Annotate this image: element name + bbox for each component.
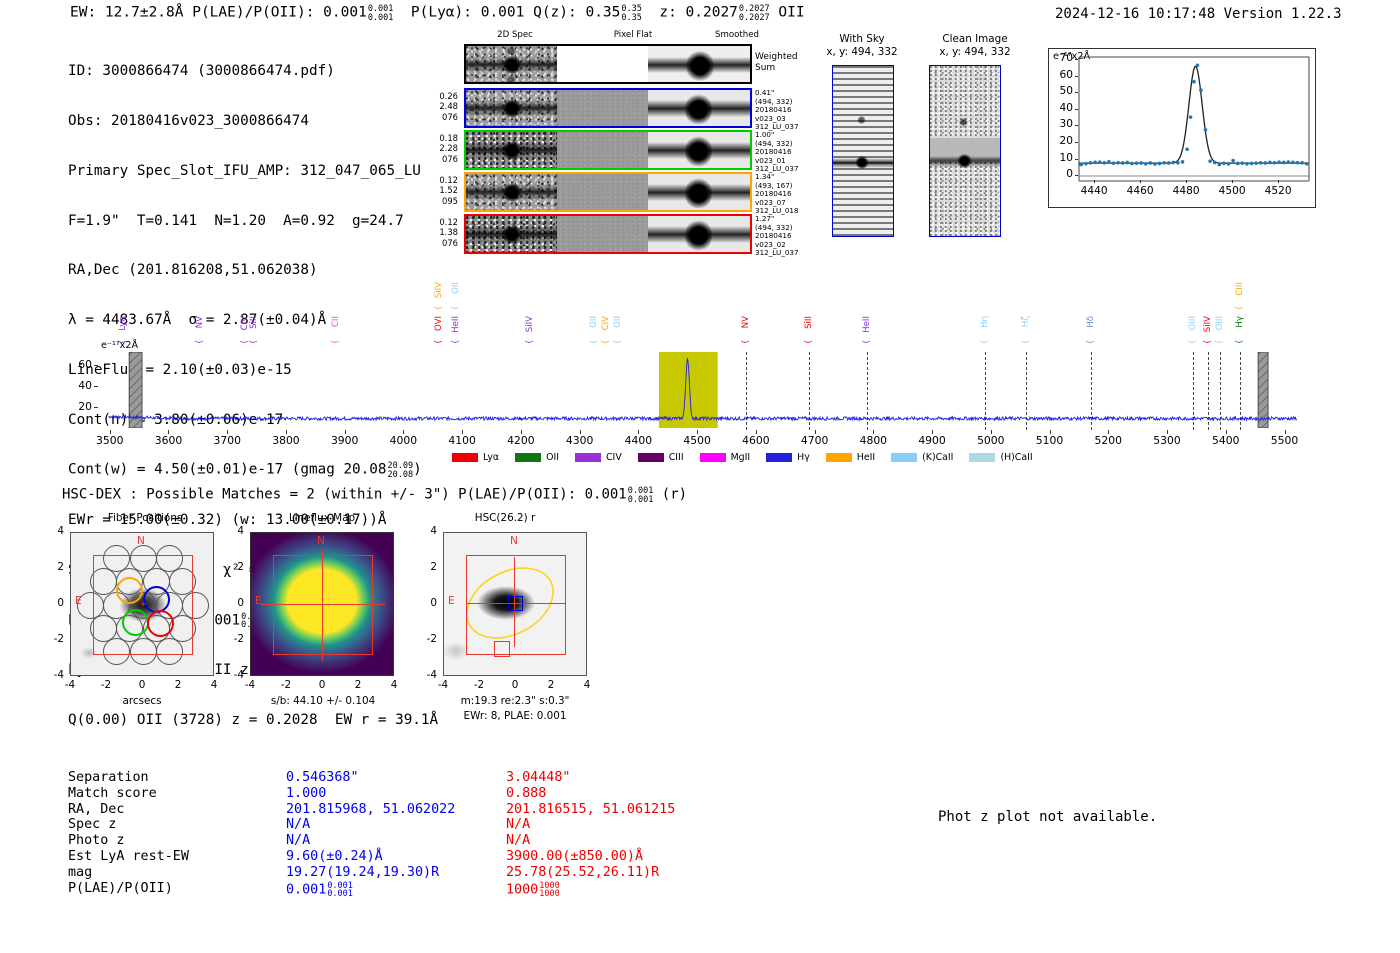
cutout-ytick: -2	[222, 633, 244, 645]
header-summary-part-b: P(Lyα): 0.001 Q(z): 0.35	[411, 5, 621, 21]
cutout-xtick: 0	[500, 679, 530, 691]
info-line-id: ID: 3000866474 (3000866474.pdf)	[68, 63, 438, 80]
hsc-headline-tail: (r)	[662, 487, 687, 503]
tick	[1075, 109, 1078, 110]
line-profile-ytick: 40	[1048, 102, 1073, 114]
spec-col-title-2dspec: 2D Spec	[460, 30, 570, 40]
match-table-value-2: 201.816515, 51.061215	[506, 802, 675, 818]
tick	[1075, 142, 1078, 143]
spec-row-3-right-labels: 1.34"(493, 167)20180416v023_07312_LU_018	[755, 173, 815, 216]
match-table-value-1: 0.0010.0010.001	[286, 881, 353, 898]
compass-n-lineflux: N	[317, 535, 325, 547]
spec-row-1	[464, 88, 752, 128]
info-line-q: Q(0.00) OII (3728) z = 0.2028 EW r = 39.…	[68, 712, 438, 729]
tick	[1285, 430, 1286, 434]
spectrum-xtick: 4300	[555, 434, 605, 447]
line-profile-svg	[1049, 49, 1315, 207]
cutout-xtick: 4	[379, 679, 409, 691]
info-line-primary: Primary Spec_Slot_IFU_AMP: 312_047_065_L…	[68, 163, 438, 180]
spectrum-line-label-OIII: OIII	[1188, 316, 1198, 330]
line-brace: (	[525, 340, 535, 344]
two-d-spectrum-panel: 2D Spec Pixel Flat Smoothed WeightedSum	[430, 30, 790, 260]
legend-label: Lyα	[483, 452, 499, 463]
legend-item-Ly: Lyα	[452, 452, 499, 463]
spectrum-line-label-CIV: CIV	[601, 316, 611, 330]
hsc-r-blue-marker	[508, 596, 523, 611]
compass-e-hsc: E	[448, 595, 455, 607]
legend-swatch	[766, 453, 792, 462]
hsc-dex-headline: HSC-DEX : Possible Matches = 2 (within +…	[62, 486, 687, 503]
spectrum-line-label-NV: NV	[195, 316, 205, 328]
cutout-ytick: 2	[42, 561, 64, 573]
legend-swatch	[891, 453, 917, 462]
info-line-cont-w: Cont(w) = 4.50(±0.01)e-17 (gmag 20.0820.…	[68, 461, 438, 478]
photz-message: Phot z plot not available.	[938, 809, 1157, 825]
spectrum-xtick: 4500	[672, 434, 722, 447]
line-profile-axes: e⁻¹⁷x2Å	[1048, 48, 1316, 208]
match-table-value-1: 201.815968, 51.062022	[286, 802, 455, 818]
legend-label: MgII	[731, 452, 751, 463]
spectrum-xtick: 4400	[613, 434, 663, 447]
spectrum-xtick: 3900	[320, 434, 370, 447]
match-table-value-2: 0.888	[506, 786, 546, 802]
spectrum-xtick: 3800	[261, 434, 311, 447]
with-sky-title-text: With Sky	[839, 33, 884, 45]
tick	[1075, 175, 1078, 176]
spec-row-4	[464, 214, 752, 254]
line-profile-ytick: 0	[1048, 168, 1073, 180]
line-profile-xtick: 4440	[1074, 185, 1114, 197]
tick	[521, 430, 522, 434]
tick	[1075, 125, 1078, 126]
spectrum-line-label-SiII: SiII	[804, 316, 814, 329]
spectrum-xtick: 4200	[496, 434, 546, 447]
legend-item-KCaII: (K)CaII	[891, 452, 953, 463]
line-brace: (	[240, 340, 250, 344]
tick	[227, 430, 228, 434]
tick	[1278, 180, 1279, 183]
spec-row-3-left-labels: 0.121.52095	[422, 175, 458, 206]
match-table-value-1: 1.000	[286, 786, 326, 802]
spec-col-title-pixelflat: Pixel Flat	[578, 30, 688, 40]
cutout-xtick: 0	[127, 679, 157, 691]
legend-swatch	[452, 453, 478, 462]
tick	[1186, 180, 1187, 183]
tick	[1075, 159, 1078, 160]
legend-label: (K)CaII	[922, 452, 953, 463]
spectrum-ytick: 20	[64, 400, 92, 413]
spectrum-line-label-OVI: OVI	[434, 316, 444, 331]
spectrum-line-label-SiIV: SiIV	[434, 282, 444, 298]
legend-swatch	[638, 453, 664, 462]
line-profile-xtick: 4480	[1166, 185, 1206, 197]
lineflux-map-title: Lineflux Map	[232, 512, 412, 524]
match-table-label: Separation	[68, 770, 149, 786]
spectrum-line-label-CIV: CIV	[240, 316, 250, 330]
spec-row-4-left-labels: 0.121.38076	[422, 217, 458, 248]
legend-swatch	[700, 453, 726, 462]
spectrum-xtick: 5500	[1260, 434, 1310, 447]
full-spectrum-axes: e⁻¹⁷x2Å	[98, 352, 1310, 430]
fiber-positions-xlabel: arcsecs	[72, 695, 212, 707]
match-table-value-1: N/A	[286, 817, 310, 833]
line-profile-ytick: 50	[1048, 85, 1073, 97]
spec-row-2-right-labels: 1.00"(494, 332)20180416v023_01312_LU_037	[755, 131, 815, 174]
line-brace: (	[601, 340, 611, 344]
spectrum-line-label-HeII: HeII	[451, 316, 461, 333]
full-spectrum-svg	[98, 352, 1308, 428]
tick	[580, 430, 581, 434]
hsc-r-caption2: EWr: 8, PLAE: 0.001	[443, 710, 587, 722]
tick	[94, 407, 98, 408]
spec-row-4-right-labels: 1.27"(494, 332)20180416v023_02312_LU_037	[755, 215, 815, 258]
match-table-value-2: N/A	[506, 817, 530, 833]
tick	[697, 430, 698, 434]
tick	[756, 430, 757, 434]
line-brace: (	[451, 306, 461, 310]
clean-image-title-text: Clean Image	[942, 33, 1007, 45]
tick	[1075, 76, 1078, 77]
spectrum-xtick: 5300	[1142, 434, 1192, 447]
header-summary-frac-3: 0.20270.2027	[739, 5, 770, 22]
cutout-xtick: 2	[536, 679, 566, 691]
match-table-value-2: 100010001000	[506, 881, 560, 898]
spec-row-2	[464, 130, 752, 170]
tick	[168, 430, 169, 434]
match-table-value-1: N/A	[286, 833, 310, 849]
match-table-label: Photo z	[68, 833, 124, 849]
spec-row-2-left-labels: 0.182.28076	[422, 133, 458, 164]
spec-row-3	[464, 172, 752, 212]
spectrum-line-label-CII: CII	[331, 316, 341, 327]
spectrum-xtick: 5200	[1083, 434, 1133, 447]
cutout-ytick: -4	[42, 669, 64, 681]
tick	[1094, 180, 1095, 183]
match-table-value-1: 0.546368"	[286, 770, 359, 786]
with-sky-image	[832, 65, 894, 237]
compass-e-fiber: E	[75, 595, 82, 607]
lineflux-map-image: N E	[250, 532, 394, 676]
cutout-xtick: 2	[163, 679, 193, 691]
compass-n-hsc: N	[510, 535, 518, 547]
tick	[1050, 430, 1051, 434]
compass-e-lineflux: E	[255, 595, 262, 607]
spec-row-1-right-labels: 0.41"(494, 332)20180416v023_03312_LU_037	[755, 89, 815, 132]
legend-item-HCaII: (H)CaII	[969, 452, 1032, 463]
legend-item-H: Hγ	[766, 452, 810, 463]
line-brace: (	[434, 306, 444, 310]
match-table-value-2: N/A	[506, 833, 530, 849]
spectrum-line-label-H: Hζ	[1021, 316, 1031, 327]
cutout-ytick: 2	[222, 561, 244, 573]
legend-label: OII	[546, 452, 559, 463]
cutout-xtick: -2	[91, 679, 121, 691]
spectrum-line-label-OII: OII	[451, 282, 461, 294]
spectrum-annotation: e⁻¹⁷x2Å	[101, 340, 138, 351]
spectrum-xtick: 5100	[1025, 434, 1075, 447]
cutout-xtick: 2	[343, 679, 373, 691]
line-profile-xtick: 4520	[1258, 185, 1298, 197]
weighted-sum-label: WeightedSum	[755, 52, 798, 74]
header-summary-part-a: EW: 12.7±2.8Å P(LAE)/P(OII): 0.001	[70, 5, 367, 21]
info-line-obs: Obs: 20180416v023_3000866474	[68, 113, 438, 130]
spectrum-line-label-H: Hγ	[1235, 316, 1245, 328]
header-summary-part-c: z: 0.2027	[659, 5, 738, 21]
match-table-value-1: 9.60(±0.24)Å	[286, 849, 383, 865]
match-table-value-2: 3.04448"	[506, 770, 571, 786]
spectrum-xtick: 3500	[85, 434, 135, 447]
spectrum-xtick: 4000	[378, 434, 428, 447]
spectrum-line-label-NV: NV	[741, 316, 751, 328]
legend-label: CIII	[669, 452, 684, 463]
line-brace: (	[1188, 340, 1198, 344]
tick	[110, 430, 111, 434]
tick	[345, 430, 346, 434]
spectrum-line-label-SiII: SiII	[249, 316, 259, 329]
line-brace: (	[980, 340, 990, 344]
legend-item-OII: OII	[515, 452, 559, 463]
match-table-label: P(LAE)/P(OII)	[68, 881, 173, 897]
line-brace: (	[1203, 340, 1213, 344]
line-profile-ytick: 20	[1048, 135, 1073, 147]
tick	[1226, 430, 1227, 434]
legend-item-CIII: CIII	[638, 452, 684, 463]
hsc-r-xlabel: m:19.3 re:2.3" s:0.3"	[443, 695, 587, 707]
hsc-dex-headline-text: HSC-DEX : Possible Matches = 2 (within +…	[62, 487, 627, 503]
info-line-params: F=1.9" T=0.141 N=1.20 A=0.92 g=24.7	[68, 213, 438, 230]
tick	[1075, 92, 1078, 93]
line-brace: (	[862, 340, 872, 344]
tick	[462, 430, 463, 434]
cutout-xtick: -2	[271, 679, 301, 691]
tick	[94, 386, 98, 387]
legend-item-MgII: MgII	[700, 452, 751, 463]
spectrum-ytick: 60	[64, 358, 92, 371]
lineflux-map-xlabel: s/b: 44.10 +/- 0.104	[252, 695, 394, 707]
tick	[873, 430, 874, 434]
clean-image-coords: x, y: 494, 332	[939, 46, 1010, 58]
spectrum-xtick: 5400	[1201, 434, 1251, 447]
line-profile-ytick: 70	[1048, 52, 1073, 64]
match-table-value-1: 19.27(19.24,19.30)R	[286, 865, 439, 881]
match-table-value-2: 25.78(25.52,26.11)R	[506, 865, 659, 881]
gmag-frac: 20.0920.08	[387, 462, 413, 479]
legend-item-CIV: CIV	[575, 452, 622, 463]
tick	[286, 430, 287, 434]
tick	[991, 430, 992, 434]
spec-col-title-smoothed: Smoothed	[682, 30, 792, 40]
spectrum-xtick: 4800	[848, 434, 898, 447]
tick	[403, 430, 404, 434]
legend-label: (H)CaII	[1000, 452, 1032, 463]
spectrum-line-label-Ly: Lyα	[118, 316, 128, 331]
line-profile-xtick: 4500	[1212, 185, 1252, 197]
spectrum-xtick: 3700	[202, 434, 252, 447]
timestamp-version: 2024-12-16 10:17:48 Version 1.22.3	[1055, 6, 1342, 22]
spectrum-legend: LyαOIICIVCIIIMgIIHγHeII(K)CaII(H)CaII	[452, 447, 1049, 466]
with-sky-coords: x, y: 494, 332	[826, 46, 897, 58]
cutout-ytick: 0	[415, 597, 437, 609]
line-brace: (	[804, 340, 814, 344]
weighted-sum-row	[464, 44, 752, 84]
line-profile-ytick: 10	[1048, 152, 1073, 164]
cutout-ytick: 4	[222, 525, 244, 537]
header-summary-line: EW: 12.7±2.8Å P(LAE)/P(OII): 0.0010.0010…	[70, 4, 805, 21]
spec-row-1-left-labels: 0.262.48076	[422, 91, 458, 122]
line-profile-xtick: 4460	[1120, 185, 1160, 197]
line-brace: (	[741, 340, 751, 344]
match-table-label: Est LyA rest-EW	[68, 849, 189, 865]
spectrum-xtick: 4900	[907, 434, 957, 447]
line-brace: (	[195, 340, 205, 344]
header-summary-frac-1: 0.0010.001	[368, 5, 394, 22]
cutout-ytick: 4	[415, 525, 437, 537]
line-brace: (	[1235, 340, 1245, 344]
header-summary-part-d: OII	[778, 5, 804, 21]
spectrum-line-label-CIII: CIII	[1235, 282, 1245, 296]
cutout-ytick: -4	[415, 669, 437, 681]
tick	[1140, 180, 1141, 183]
spectrum-xtick: 5000	[966, 434, 1016, 447]
spectrum-line-label-SiIV: SiIV	[1203, 316, 1213, 332]
line-profile-ytick: 60	[1048, 69, 1073, 81]
clean-image-title: Clean Image x, y: 494, 332	[920, 33, 1030, 58]
tick	[1167, 430, 1168, 434]
spectrum-line-label-H: Hδ	[1086, 316, 1096, 328]
cutout-ytick: -2	[42, 633, 64, 645]
cutout-ytick: 4	[42, 525, 64, 537]
spectrum-xtick: 4600	[731, 434, 781, 447]
spectrum-line-label-OII: OII	[613, 316, 623, 328]
legend-swatch	[575, 453, 601, 462]
match-table-label: Spec z	[68, 817, 116, 833]
legend-swatch	[826, 453, 852, 462]
clean-image	[929, 65, 1001, 237]
spectrum-line-label-H: Hη	[980, 316, 990, 328]
cutout-xtick: 4	[572, 679, 602, 691]
spectrum-line-label-OIII: OIII	[1215, 316, 1225, 330]
compass-n-fiber: N	[137, 535, 145, 547]
info-line-radec: RA,Dec (201.816208,51.062038)	[68, 262, 438, 279]
fiber-positions-image: N E +	[70, 532, 214, 676]
cutout-ytick: -4	[222, 669, 244, 681]
match-table-label: RA, Dec	[68, 802, 124, 818]
cutout-ytick: -2	[415, 633, 437, 645]
legend-swatch	[969, 453, 995, 462]
line-brace: (	[589, 340, 599, 344]
match-table-label: Match score	[68, 786, 157, 802]
tick	[932, 430, 933, 434]
spectrum-line-label-SiIV: SiIV	[525, 316, 535, 332]
line-profile-ytick: 30	[1048, 118, 1073, 130]
spectrum-xtick: 4100	[437, 434, 487, 447]
line-brace: (	[249, 340, 259, 344]
spectrum-xtick: 4700	[790, 434, 840, 447]
line-profile-chart: e⁻¹⁷x2Å 44404460448045004520 01020304050…	[1048, 48, 1316, 208]
tick	[1108, 430, 1109, 434]
legend-swatch	[515, 453, 541, 462]
hsc-r-title: HSC(26.2) r	[410, 512, 600, 524]
cutout-xtick: 0	[307, 679, 337, 691]
cutout-ytick: 0	[222, 597, 244, 609]
line-brace: (	[434, 340, 444, 344]
tick	[94, 365, 98, 366]
spectrum-line-label-HeII: HeII	[862, 316, 872, 333]
fiber-positions-title: Fiber Positions	[50, 512, 240, 524]
cutout-ytick: 2	[415, 561, 437, 573]
line-brace: (	[1235, 306, 1245, 310]
tick	[1232, 180, 1233, 183]
cutout-xtick: -2	[464, 679, 494, 691]
hsc-r-image: N E	[443, 532, 587, 676]
match-table-value-2: 3900.00(±850.00)Å	[506, 849, 643, 865]
legend-label: HeII	[857, 452, 875, 463]
legend-label: Hγ	[797, 452, 810, 463]
spectrum-line-label-OII: OII	[589, 316, 599, 328]
tick	[815, 430, 816, 434]
legend-item-HeII: HeII	[826, 452, 875, 463]
fiber-center-marker: +	[140, 602, 146, 608]
spectrum-ytick: 40	[64, 379, 92, 392]
match-table-label: mag	[68, 865, 92, 881]
tick	[638, 430, 639, 434]
header-summary-frac-2: 0.350.35	[621, 5, 641, 22]
with-sky-title: With Sky x, y: 494, 332	[812, 33, 912, 58]
line-brace: (	[451, 340, 461, 344]
spectrum-xtick: 3600	[143, 434, 193, 447]
cutout-ytick: 0	[42, 597, 64, 609]
line-brace: (	[1215, 340, 1225, 344]
line-brace: (	[1021, 340, 1031, 344]
tick	[1075, 59, 1078, 60]
hsc-plae-frac: 0.0010.001	[628, 487, 654, 504]
line-brace: (	[1086, 340, 1096, 344]
line-brace: (	[331, 340, 341, 344]
legend-label: CIV	[606, 452, 622, 463]
line-brace: (	[613, 340, 623, 344]
